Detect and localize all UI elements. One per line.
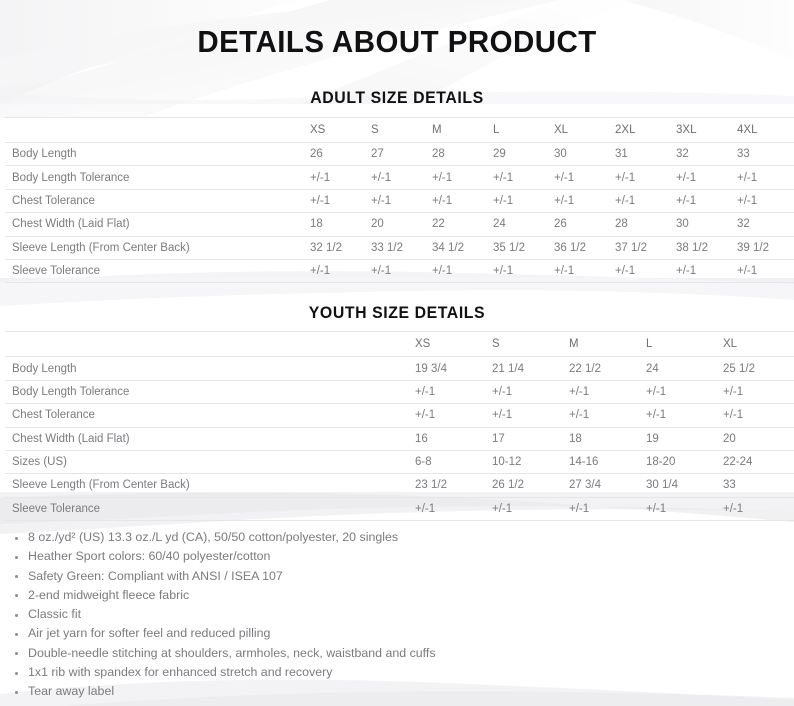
row-label: Chest Tolerance: [5, 189, 310, 212]
youth-section-title: YOUTH SIZE DETAILS: [16, 283, 778, 331]
table-row: Body Length 19 3/4 21 1/4 22 1/2 24 25 1…: [5, 357, 794, 380]
cell: +/-1: [676, 259, 737, 282]
list-item: 1x1 rib with spandex for enhanced stretc…: [0, 663, 794, 682]
cell: 30 1/4: [646, 474, 723, 497]
cell: +/-1: [569, 497, 646, 520]
row-label: Chest Tolerance: [5, 404, 415, 427]
cell: 6-8: [415, 450, 492, 473]
cell: 33: [723, 474, 794, 497]
cell: +/-1: [415, 404, 492, 427]
cell: +/-1: [554, 189, 615, 212]
table-row: Sleeve Tolerance +/-1 +/-1 +/-1 +/-1 +/-…: [5, 259, 794, 282]
cell: 30: [554, 143, 615, 166]
cell: +/-1: [432, 189, 493, 212]
cell: +/-1: [615, 189, 676, 212]
table-row: Sleeve Tolerance +/-1 +/-1 +/-1 +/-1 +/-…: [5, 497, 794, 520]
row-label: Chest Width (Laid Flat): [5, 213, 310, 236]
cell: +/-1: [723, 380, 794, 403]
cell: +/-1: [737, 259, 794, 282]
cell: 14-16: [569, 450, 646, 473]
cell: 24: [493, 213, 554, 236]
cell: +/-1: [554, 166, 615, 189]
cell: +/-1: [646, 404, 723, 427]
list-item: Tear away label: [0, 682, 794, 701]
cell: +/-1: [723, 404, 794, 427]
cell: 28: [432, 143, 493, 166]
cell: 22: [432, 213, 493, 236]
table-header-row: XS S M L XL: [5, 332, 794, 357]
cell: 37 1/2: [615, 236, 676, 259]
cell: 29: [493, 143, 554, 166]
table-row: Chest Width (Laid Flat) 16 17 18 19 20: [5, 427, 794, 450]
row-label: Sizes (US): [5, 450, 415, 473]
column-header: 2XL: [615, 118, 676, 143]
cell: +/-1: [432, 259, 493, 282]
cell: 23 1/2: [415, 474, 492, 497]
cell: +/-1: [569, 380, 646, 403]
cell: +/-1: [615, 166, 676, 189]
table-row: Body Length Tolerance +/-1 +/-1 +/-1 +/-…: [5, 380, 794, 403]
row-label: Body Length Tolerance: [5, 166, 310, 189]
cell: +/-1: [723, 497, 794, 520]
cell: 32: [676, 143, 737, 166]
table-row: Chest Tolerance +/-1 +/-1 +/-1 +/-1 +/-1: [5, 404, 794, 427]
cell: 33: [737, 143, 794, 166]
cell: 19 3/4: [415, 357, 492, 380]
cell: 27: [371, 143, 432, 166]
cell: 26 1/2: [492, 474, 569, 497]
cell: 24: [646, 357, 723, 380]
cell: +/-1: [569, 404, 646, 427]
table-row: Chest Tolerance +/-1 +/-1 +/-1 +/-1 +/-1…: [5, 189, 794, 212]
product-details-page: DETAILS ABOUT PRODUCT ADULT SIZE DETAILS…: [0, 0, 794, 706]
cell: 16: [415, 427, 492, 450]
list-item: Classic fit: [0, 605, 794, 624]
list-item: Safety Green: Compliant with ANSI / ISEA…: [0, 567, 794, 586]
cell: 34 1/2: [432, 236, 493, 259]
cell: +/-1: [737, 189, 794, 212]
cell: +/-1: [432, 166, 493, 189]
column-header: M: [569, 332, 646, 357]
cell: 38 1/2: [676, 236, 737, 259]
list-item: Air jet yarn for softer feel and reduced…: [0, 624, 794, 643]
cell: 10-12: [492, 450, 569, 473]
cell: +/-1: [676, 166, 737, 189]
cell: +/-1: [415, 497, 492, 520]
column-header: XS: [415, 332, 492, 357]
row-label: Sleeve Length (From Center Back): [5, 474, 415, 497]
cell: 32: [737, 213, 794, 236]
cell: +/-1: [493, 189, 554, 212]
column-header: XL: [554, 118, 615, 143]
table-row: Body Length Tolerance +/-1 +/-1 +/-1 +/-…: [5, 166, 794, 189]
column-header: S: [492, 332, 569, 357]
cell: 21 1/4: [492, 357, 569, 380]
row-label: Body Length: [5, 357, 415, 380]
column-header: XS: [310, 118, 371, 143]
cell: 22 1/2: [569, 357, 646, 380]
column-header: S: [371, 118, 432, 143]
cell: 31: [615, 143, 676, 166]
cell: 27 3/4: [569, 474, 646, 497]
cell: 18-20: [646, 450, 723, 473]
cell: +/-1: [371, 189, 432, 212]
cell: 39 1/2: [737, 236, 794, 259]
cell: 18: [310, 213, 371, 236]
cell: 35 1/2: [493, 236, 554, 259]
column-header: L: [646, 332, 723, 357]
cell: 20: [371, 213, 432, 236]
column-header: XL: [723, 332, 794, 357]
cell: 26: [310, 143, 371, 166]
row-label: Sleeve Tolerance: [5, 497, 415, 520]
column-header: [5, 118, 310, 143]
table-row: Sizes (US) 6-8 10-12 14-16 18-20 22-24: [5, 450, 794, 473]
cell: +/-1: [615, 259, 676, 282]
cell: +/-1: [415, 380, 492, 403]
cell: 20: [723, 427, 794, 450]
list-item: 2-end midweight fleece fabric: [0, 586, 794, 605]
column-header: [5, 332, 415, 357]
page-title: DETAILS ABOUT PRODUCT: [20, 0, 774, 60]
cell: +/-1: [493, 166, 554, 189]
youth-size-table: XS S M L XL Body Length 19 3/4 21 1/4 22…: [5, 331, 794, 521]
cell: +/-1: [492, 497, 569, 520]
cell: 28: [615, 213, 676, 236]
table-row: Body Length 26 27 28 29 30 31 32 33 34: [5, 143, 794, 166]
cell: +/-1: [737, 166, 794, 189]
table-row: Chest Width (Laid Flat) 18 20 22 24 26 2…: [5, 213, 794, 236]
list-item: 8 oz./yd² (US) 13.3 oz./L yd (CA), 50/50…: [0, 528, 794, 547]
column-header: M: [432, 118, 493, 143]
cell: +/-1: [371, 166, 432, 189]
cell: +/-1: [492, 380, 569, 403]
cell: 22-24: [723, 450, 794, 473]
table-row: Sleeve Length (From Center Back) 32 1/2 …: [5, 236, 794, 259]
cell: +/-1: [371, 259, 432, 282]
product-features-list: 8 oz./yd² (US) 13.3 oz./L yd (CA), 50/50…: [0, 528, 794, 702]
table-header-row: XS S M L XL 2XL 3XL 4XL 5XL: [5, 118, 794, 143]
table-row: Sleeve Length (From Center Back) 23 1/2 …: [5, 474, 794, 497]
cell: 36 1/2: [554, 236, 615, 259]
cell: +/-1: [646, 497, 723, 520]
cell: +/-1: [676, 189, 737, 212]
cell: 18: [569, 427, 646, 450]
row-label: Chest Width (Laid Flat): [5, 427, 415, 450]
cell: +/-1: [493, 259, 554, 282]
column-header: L: [493, 118, 554, 143]
list-item: Double-needle stitching at shoulders, ar…: [0, 644, 794, 663]
cell: 19: [646, 427, 723, 450]
cell: +/-1: [492, 404, 569, 427]
cell: 32 1/2: [310, 236, 371, 259]
cell: 17: [492, 427, 569, 450]
cell: +/-1: [310, 189, 371, 212]
adult-section-title: ADULT SIZE DETAILS: [16, 60, 778, 117]
cell: 25 1/2: [723, 357, 794, 380]
cell: 33 1/2: [371, 236, 432, 259]
cell: +/-1: [310, 166, 371, 189]
column-header: 4XL: [737, 118, 794, 143]
cell: 26: [554, 213, 615, 236]
cell: 30: [676, 213, 737, 236]
list-item: Heather Sport colors: 60/40 polyester/co…: [0, 547, 794, 566]
cell: +/-1: [310, 259, 371, 282]
column-header: 3XL: [676, 118, 737, 143]
row-label: Body Length: [5, 143, 310, 166]
row-label: Body Length Tolerance: [5, 380, 415, 403]
adult-size-table: XS S M L XL 2XL 3XL 4XL 5XL Body Length …: [5, 117, 794, 283]
row-label: Sleeve Length (From Center Back): [5, 236, 310, 259]
row-label: Sleeve Tolerance: [5, 259, 310, 282]
cell: +/-1: [646, 380, 723, 403]
cell: +/-1: [554, 259, 615, 282]
